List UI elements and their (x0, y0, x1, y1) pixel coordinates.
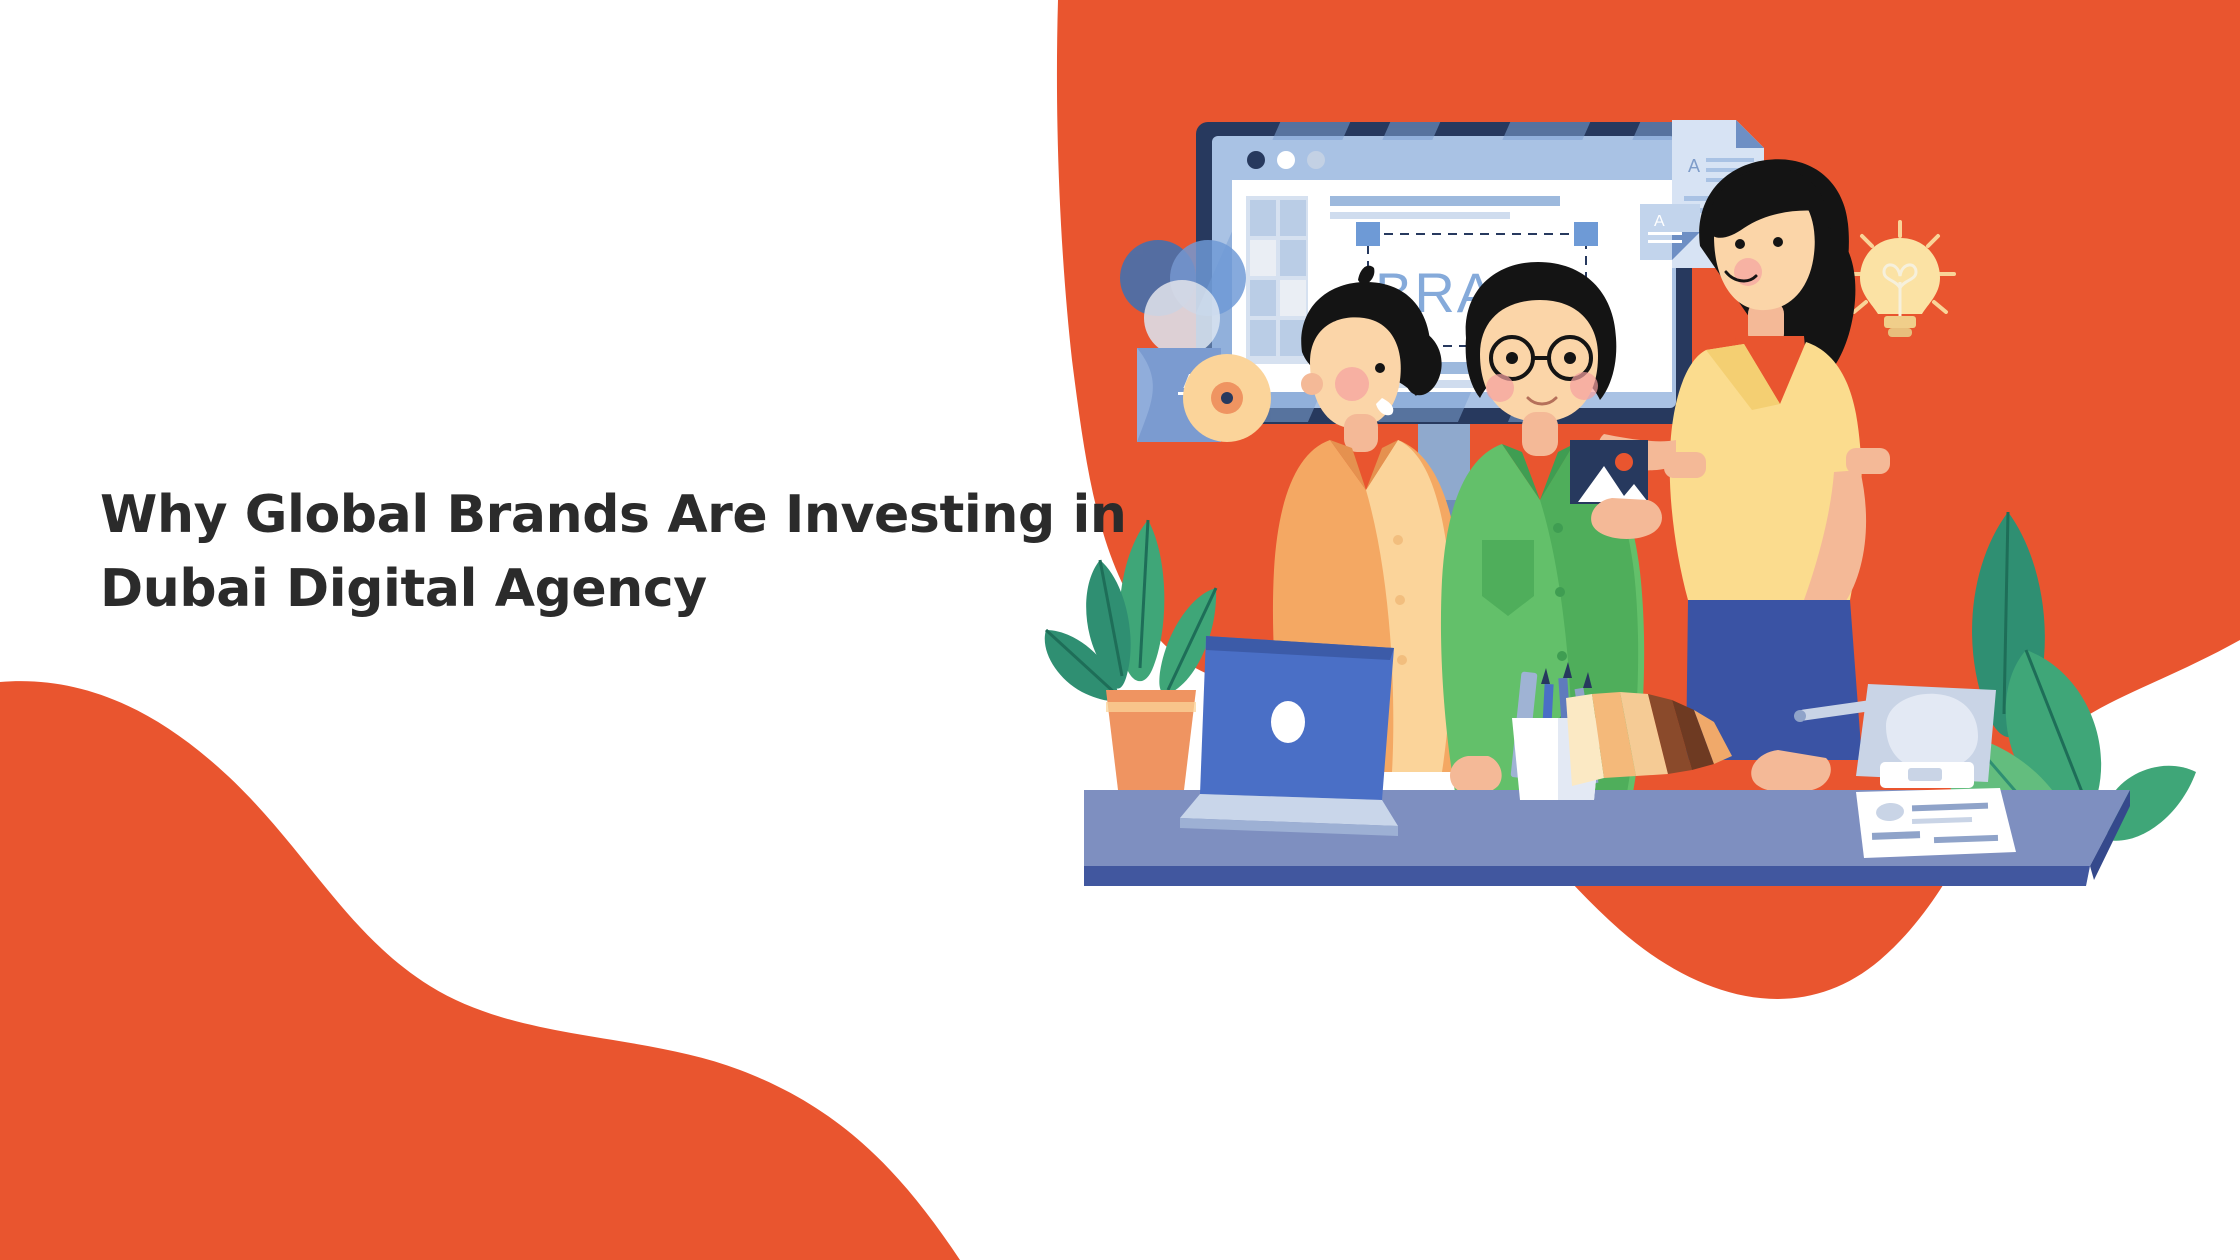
hero-banner: BRAND A A (0, 0, 2240, 1260)
paper-document (1856, 788, 2016, 858)
laptop (1180, 636, 1398, 836)
graphics-tablet (1856, 684, 1996, 788)
laptop-logo (1271, 701, 1305, 743)
headline-line-1: Why Global Brands Are Investing in (100, 478, 1110, 552)
screen-tool-grid (1246, 196, 1308, 364)
vinyl-disc (1183, 354, 1271, 442)
svg-text:A: A (1654, 213, 1665, 230)
page-title: Why Global Brands Are Investing in Dubai… (100, 478, 1110, 626)
window-dot-close (1247, 151, 1265, 169)
window-dot-max (1307, 151, 1325, 169)
svg-text:A: A (1688, 156, 1700, 176)
headline-line-2: Dubai Digital Agency (100, 552, 1110, 626)
window-dot-min (1277, 151, 1295, 169)
designers-illustration: BRAND A A (0, 0, 2240, 1260)
lightbulb-idea-icon (1846, 222, 1954, 337)
